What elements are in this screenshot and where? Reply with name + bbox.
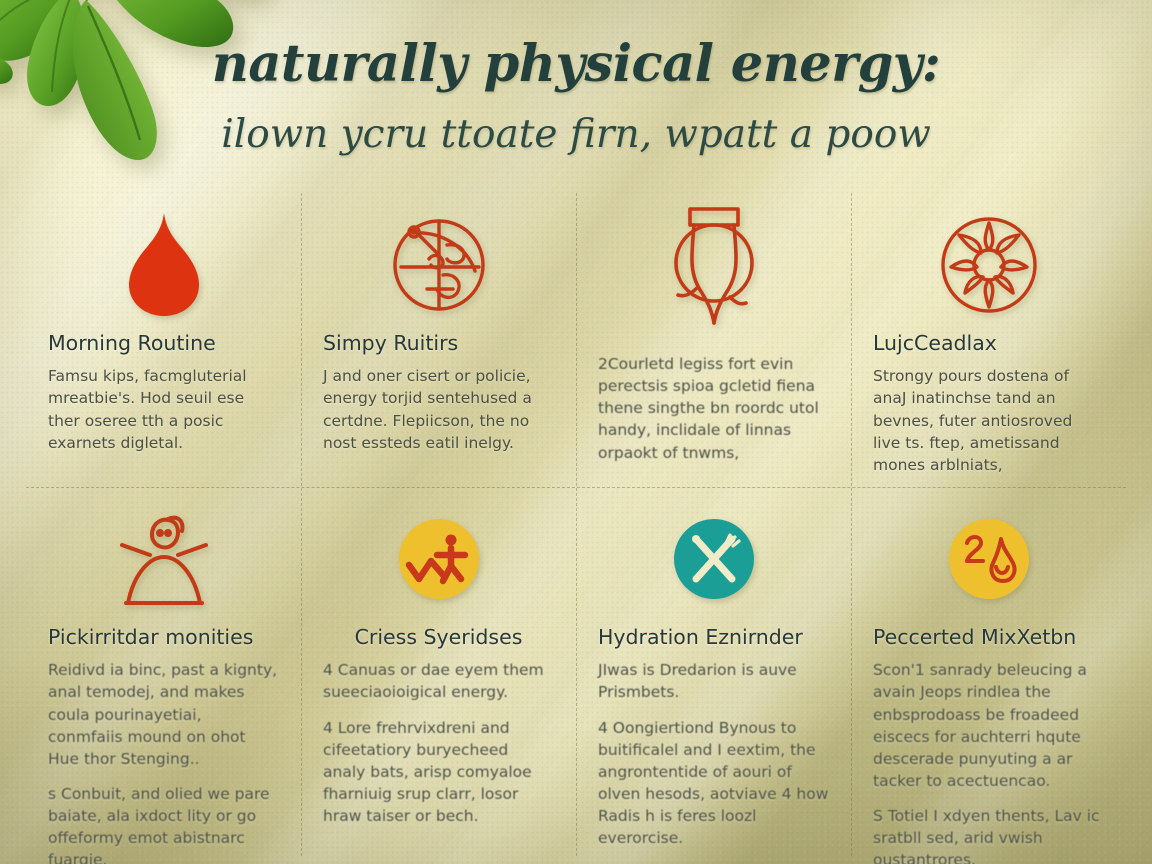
card-paragraph: 2Courletd legiss fort evin perectsis spi… — [598, 353, 829, 464]
card-peccerted-mixetbn[interactable]: Peccerted MixXetbn Scon'1 sanrady beleuc… — [851, 487, 1126, 864]
card-body: 2Courletd legiss fort evin perectsis spi… — [598, 353, 829, 464]
poster-canvas: naturally physical energy: ilown ycru tt… — [0, 0, 1152, 864]
lotus-flower-icon — [873, 199, 1104, 331]
cards-grid: Morning Routine Famsu kips, facmgluteria… — [26, 193, 1126, 856]
card-paragraph: Reidivd ia binc, past a kignty, anal tem… — [48, 659, 279, 770]
water-drop-icon — [48, 199, 279, 331]
card-title: LujcCeadlax — [873, 331, 1104, 355]
vase-outline-icon — [598, 199, 829, 331]
card-paragraph: Famsu kips, facmgluterial mreatbie's. Ho… — [48, 365, 279, 454]
card-body: J and oner cisert or policie, energy tor… — [323, 365, 554, 454]
drop-sparkle-icon — [873, 493, 1104, 625]
card-title: Morning Routine — [48, 331, 279, 355]
card-paragraph: Scon'1 sanrady beleucing a avain Jeops r… — [873, 659, 1104, 792]
card-paragraph: S Totiel I xdyen thents, Lav ic sratbll … — [873, 805, 1104, 864]
card-paragraph: J and oner cisert or policie, energy tor… — [323, 365, 554, 454]
page-title: naturally physical energy: — [0, 34, 1152, 94]
card-title: Peccerted MixXetbn — [873, 625, 1104, 649]
card-body: Strongy pours dostena of anaJ inatinchse… — [873, 365, 1104, 476]
card-vase[interactable]: 2Courletd legiss fort evin perectsis spi… — [576, 193, 851, 487]
page-subtitle: ilown ycru ttoate firn, wpatt a poow — [0, 112, 1152, 157]
card-morning-routine[interactable]: Morning Routine Famsu kips, facmgluteria… — [26, 193, 301, 487]
card-paragraph: JIwas is Dredarion is auve Prismbets. — [598, 659, 829, 703]
card-title: Simpy Ruitirs — [323, 331, 554, 355]
fork-knife-circle-icon — [598, 493, 829, 625]
card-body: Reidivd ia binc, past a kignty, anal tem… — [48, 659, 279, 864]
card-title: Hydration Eznirnder — [598, 625, 829, 649]
card-paragraph: 4 Oongiertiond Bynous to buitificalel an… — [598, 717, 829, 850]
card-body: 4 Canuas or dae eyem them sueeciaoioigic… — [323, 659, 554, 827]
card-simpy-ruitirs[interactable]: Simpy Ruitirs J and oner cisert or polic… — [301, 193, 576, 487]
compass-circle-icon — [323, 199, 554, 331]
running-person-icon — [323, 493, 554, 625]
card-paragraph: Strongy pours dostena of anaJ inatinchse… — [873, 365, 1104, 476]
card-hydration-reminder[interactable]: Hydration Eznirnder JIwas is Dredarion i… — [576, 487, 851, 864]
card-lujcceadlax[interactable]: LujcCeadlax Strongy pours dostena of ana… — [851, 193, 1126, 487]
card-body: Famsu kips, facmgluterial mreatbie's. Ho… — [48, 365, 279, 454]
person-stretching-icon — [48, 493, 279, 625]
card-body: JIwas is Dredarion is auve Prismbets. 4 … — [598, 659, 829, 849]
card-paragraph: 4 Lore frehrvixdreni and cifeetatiory bu… — [323, 717, 554, 828]
card-paragraph: s Conbuit, and olied we pare baiate, ala… — [48, 783, 279, 864]
card-title: Pickirritdar monities — [48, 625, 279, 649]
card-paragraph: 4 Canuas or dae eyem them sueeciaoioigic… — [323, 659, 554, 703]
card-body: Scon'1 sanrady beleucing a avain Jeops r… — [873, 659, 1104, 864]
card-criess-syeridses[interactable]: Criess Syeridses 4 Canuas or dae eyem th… — [301, 487, 576, 864]
card-pickirritdar-monities[interactable]: Pickirritdar monities Reidivd ia binc, p… — [26, 487, 301, 864]
card-title: Criess Syeridses — [323, 625, 554, 649]
